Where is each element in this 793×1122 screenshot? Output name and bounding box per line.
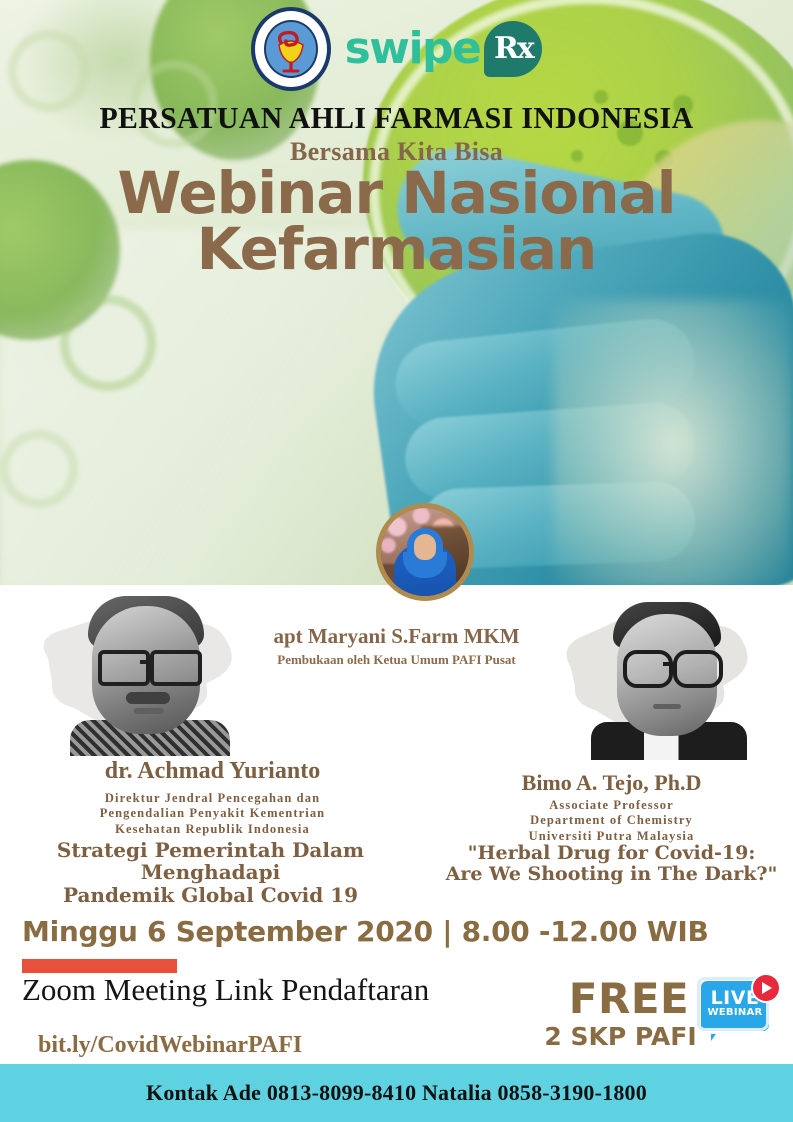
contact-bar: Kontak Ade 0813-8099-8410 Natalia 0858-3… xyxy=(0,1064,793,1122)
swipe-wordmark: swipe xyxy=(345,27,481,71)
speaker-mouth xyxy=(653,704,681,709)
bowl-of-hygieia-icon xyxy=(271,29,311,73)
speaker-glasses-bridge xyxy=(140,660,154,664)
speaker-affiliation-tejo: Associate Professor Department of Chemis… xyxy=(430,798,793,844)
avatar-face xyxy=(414,534,436,560)
speaker-name-yurianto: dr. Achmad Yurianto xyxy=(0,758,425,785)
swiperx-logo: swipe Rx xyxy=(345,21,543,77)
speaker-glasses-right xyxy=(673,650,723,688)
play-button-icon xyxy=(753,975,779,1001)
rx-text: Rx xyxy=(494,34,533,64)
badge-webinar-text: WEBINAR xyxy=(701,1008,769,1018)
virus-ring-icon xyxy=(0,430,78,508)
red-accent-bar xyxy=(22,959,177,973)
speaker-topic-yurianto: Strategi Pemerintah Dalam Menghadapi Pan… xyxy=(0,839,423,906)
live-webinar-badge: LIVE WEBINAR xyxy=(697,975,779,1047)
speaker-moustache xyxy=(126,692,170,704)
price-credits: 2 SKP PAFI xyxy=(528,1022,713,1051)
pafi-logo xyxy=(251,7,331,91)
page-title: Webinar Nasional Kefarmasian xyxy=(0,166,793,277)
speaker-affiliation-yurianto: Direktur Jendral Pencegahan dan Pengenda… xyxy=(0,791,425,837)
price-free: FREE xyxy=(545,974,713,1023)
schedule-date-time: Minggu 6 September 2020 | 8.00 -12.00 WI… xyxy=(22,915,709,948)
organization-name: PERSATUAN AHLI FARMASI INDONESIA xyxy=(16,100,777,136)
title-line-2: Kefarmasian xyxy=(0,222,793,278)
webinar-poster: swipe Rx PERSATUAN AHLI FARMASI INDONESI… xyxy=(0,0,793,1122)
speaker-name-tejo: Bimo A. Tejo, Ph.D xyxy=(430,770,793,796)
virus-ring-icon xyxy=(60,295,156,391)
registration-link[interactable]: bit.ly/CovidWebinarPAFI xyxy=(38,1032,302,1059)
speaker-glasses-left xyxy=(623,650,673,688)
speaker-glasses-right xyxy=(150,650,202,686)
speaker-photo-tejo xyxy=(555,592,770,760)
opening-speaker-avatar xyxy=(376,503,474,601)
registration-label: Zoom Meeting Link Pendaftaran xyxy=(22,972,429,1008)
speaker-glasses-left xyxy=(98,650,150,686)
title-line-1: Webinar Nasional xyxy=(0,166,793,222)
speaker-topic-tejo: "Herbal Drug for Covid-19: Are We Shooti… xyxy=(430,843,793,886)
speaker-photo-yurianto xyxy=(30,588,260,756)
contact-text: Kontak Ade 0813-8099-8410 Natalia 0858-3… xyxy=(146,1080,647,1106)
logo-row: swipe Rx xyxy=(0,8,793,90)
rx-bubble-icon: Rx xyxy=(484,21,542,77)
background-blur-right xyxy=(553,300,793,585)
speaker-mouth xyxy=(134,708,164,714)
speaker-glasses-bridge xyxy=(663,662,677,666)
